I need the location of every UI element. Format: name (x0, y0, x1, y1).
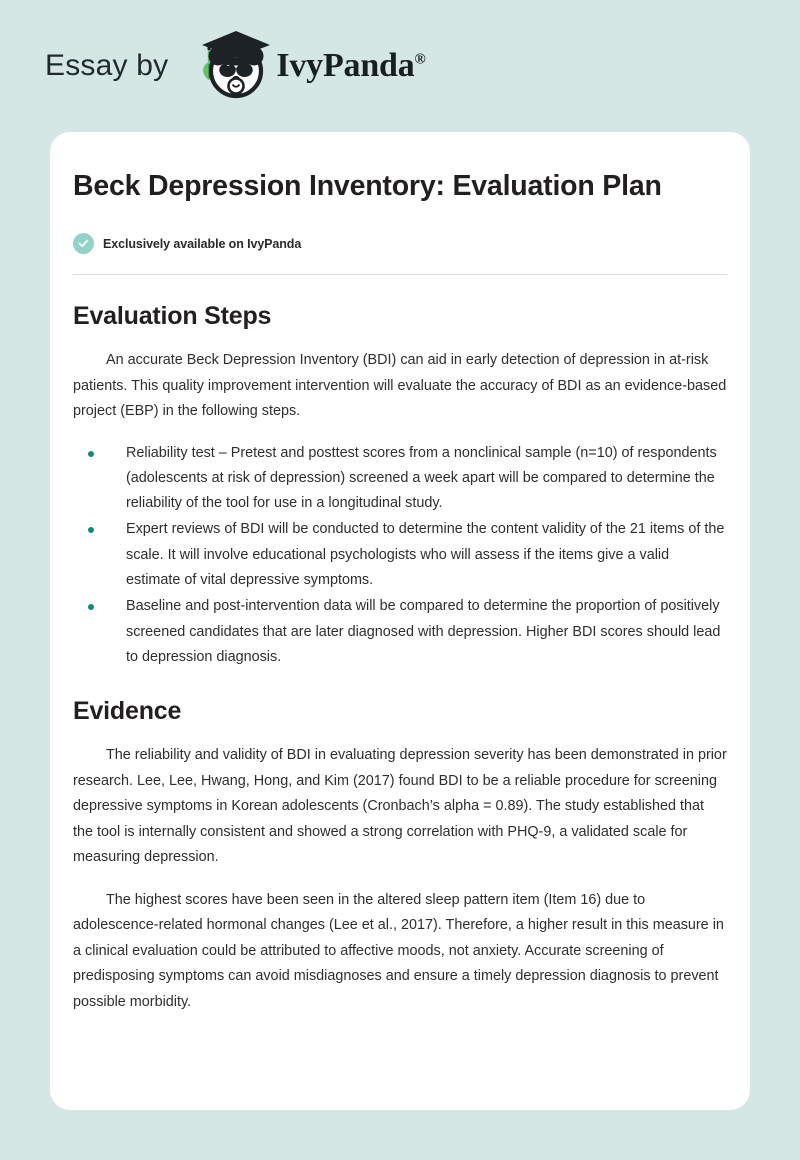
brand-name-text: IvyPanda (276, 47, 414, 84)
bullet-dot-icon (88, 604, 94, 610)
list-item: Baseline and post-intervention data will… (73, 594, 727, 670)
page-title: Beck Depression Inventory: Evaluation Pl… (73, 166, 727, 207)
section-heading-evaluation-steps: Evaluation Steps (73, 302, 727, 331)
registered-mark: ® (415, 52, 426, 68)
paragraph: The highest scores have been seen in the… (73, 888, 727, 1016)
page-header: Essay by IvyPanda® (0, 0, 800, 132)
essay-by-label: Essay by (45, 49, 168, 83)
ivypanda-panda-graduate-logo-icon (182, 29, 274, 103)
exclusivity-badge: Exclusively available on IvyPanda (73, 233, 727, 254)
bullet-dot-icon (88, 451, 94, 457)
list-item-text: Baseline and post-intervention data will… (126, 598, 720, 665)
bullet-dot-icon (88, 527, 94, 533)
badge-label: Exclusively available on IvyPanda (103, 237, 301, 251)
check-circle-icon (73, 233, 94, 254)
header-divider (73, 274, 727, 275)
list-item-text: Expert reviews of BDI will be conducted … (126, 521, 724, 588)
essay-card: Beck Depression Inventory: Evaluation Pl… (50, 132, 750, 1110)
evaluation-steps-list: Reliability test – Pretest and posttest … (73, 441, 727, 671)
brand-wordmark: IvyPanda® (276, 47, 425, 85)
paragraph: An accurate Beck Depression Inventory (B… (73, 348, 727, 425)
section-heading-evidence: Evidence (73, 697, 727, 726)
list-item: Reliability test – Pretest and posttest … (73, 441, 727, 517)
list-item-text: Reliability test – Pretest and posttest … (126, 445, 717, 512)
paragraph: The reliability and validity of BDI in e… (73, 743, 727, 871)
list-item: Expert reviews of BDI will be conducted … (73, 517, 727, 593)
ivypanda-logo[interactable]: IvyPanda® (182, 29, 425, 103)
